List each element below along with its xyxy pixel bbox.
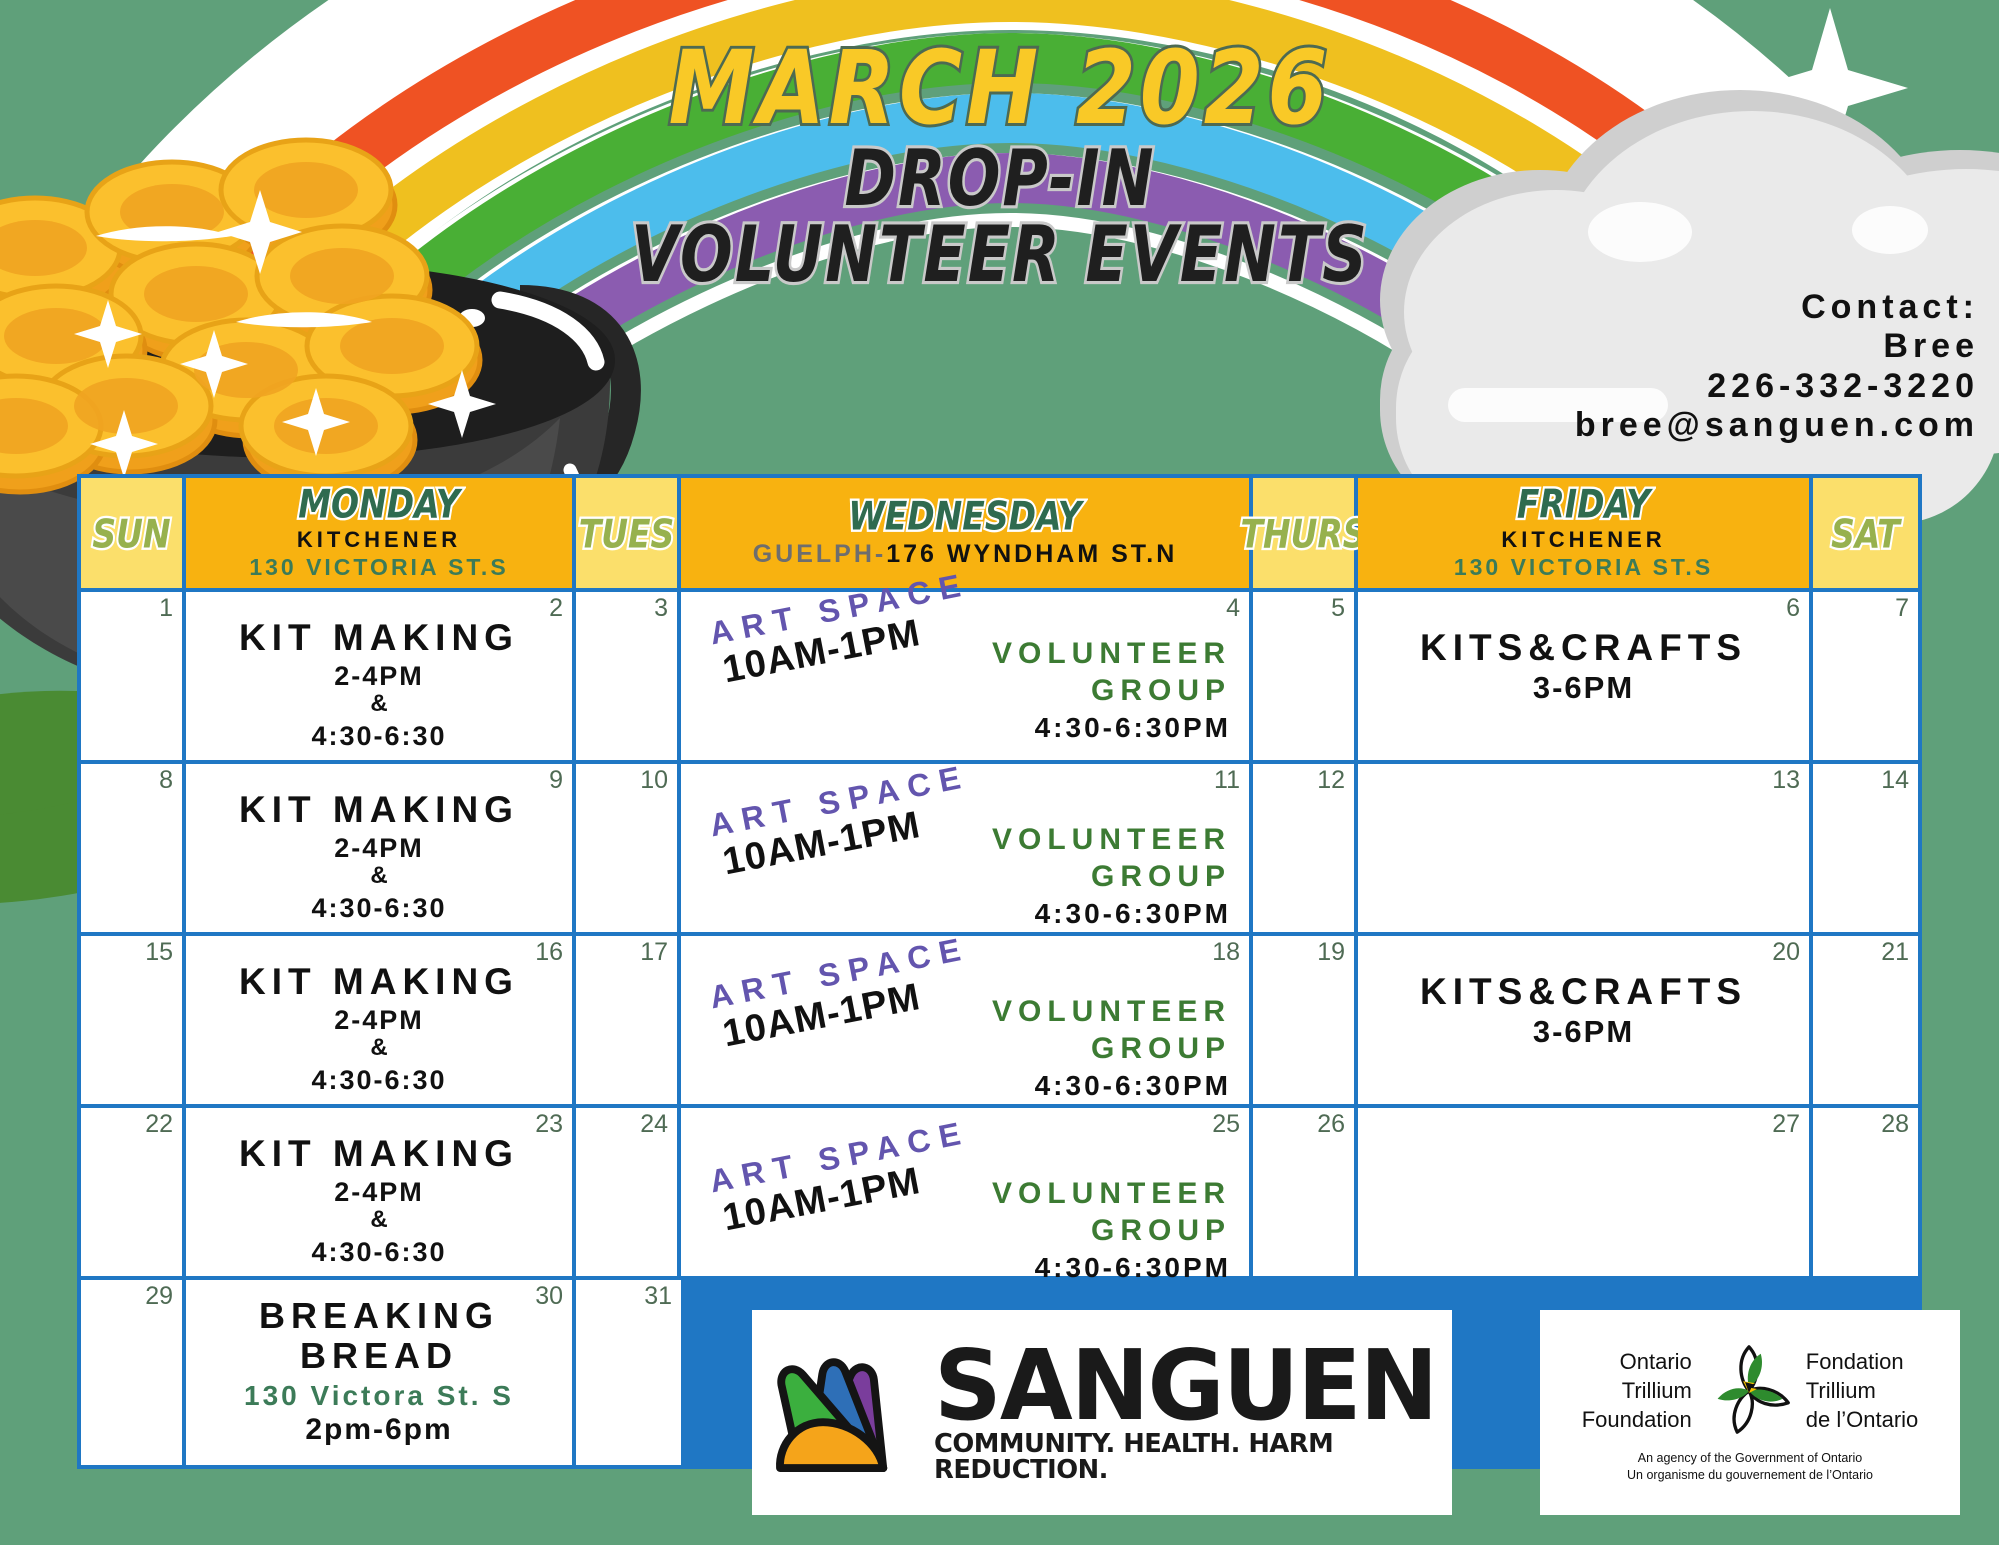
event-block: ART SPACE 10AM-1PM VOLUNTEER GROUP 4:30-… (681, 936, 1249, 1104)
day-number: 19 (1317, 940, 1345, 965)
header-sun: SUN (81, 478, 186, 588)
day-cell[interactable]: 23 KIT MAKING 2-4PM & 4:30-6:30 (186, 1108, 576, 1276)
day-number: 26 (1317, 1112, 1345, 1137)
day-number: 15 (145, 940, 173, 965)
event-title: KIT MAKING (186, 790, 572, 830)
event-title: KIT MAKING (186, 962, 572, 1002)
header-wednesday-street: 176 WYNDHAM ST.N (886, 540, 1177, 568)
day-cell[interactable]: 8 (81, 764, 186, 932)
otf-fr-line-2: Trillium (1806, 1376, 1919, 1405)
day-cell[interactable]: 12 (1253, 764, 1358, 932)
title-line-2: DROP-IN (600, 140, 1400, 218)
volunteer-group-title-1: VOLUNTEER (992, 994, 1231, 1031)
otf-french-name: Fondation Trillium de l’Ontario (1806, 1347, 1919, 1434)
event-block: KIT MAKING 2-4PM & 4:30-6:30 (186, 790, 572, 923)
header-sat-label: SAT (1831, 510, 1900, 557)
event-title-line-1: BREAKING (186, 1296, 572, 1336)
header-sun-label: SUN (92, 510, 170, 557)
volunteer-group-time: 4:30-6:30PM (992, 1251, 1231, 1285)
calendar-week-row: 22 23 KIT MAKING 2-4PM & 4:30-6:30 24 25… (81, 1104, 1918, 1276)
header-wednesday-label: WEDNESDAY (848, 492, 1081, 539)
event-time-1: 2-4PM (186, 661, 572, 691)
sanguen-tagline: COMMUNITY. HEALTH. HARM REDUCTION. (934, 1431, 1447, 1483)
volunteer-group-time: 4:30-6:30PM (992, 711, 1231, 745)
day-cell[interactable]: 15 (81, 936, 186, 1104)
event-block: ART SPACE 10AM-1PM VOLUNTEER GROUP 4:30-… (681, 592, 1249, 760)
day-cell[interactable]: 28 (1813, 1108, 1918, 1276)
contact-name: Bree (1379, 327, 1979, 366)
poster-title: MARCH 2026 DROP-IN VOLUNTEER EVENTS (600, 38, 1400, 278)
header-friday-city: KITCHENER (1501, 526, 1665, 554)
header-thurs-label: THURS (1240, 510, 1366, 557)
event-time-1: 3-6PM (1358, 1015, 1809, 1050)
sanguen-fan-icon (770, 1325, 924, 1500)
event-time-1: 3-6PM (1358, 671, 1809, 706)
event-block: KITS&CRAFTS 3-6PM (1358, 628, 1809, 706)
day-number: 14 (1881, 768, 1909, 793)
day-cell[interactable]: 27 (1358, 1108, 1813, 1276)
header-monday-label: MONDAY (298, 480, 460, 527)
day-number: 20 (1772, 940, 1800, 965)
title-month: MARCH 2026 (600, 38, 1400, 139)
event-block: ART SPACE 10AM-1PM VOLUNTEER GROUP 4:30-… (681, 1108, 1249, 1276)
contact-block: Contact: Bree 226-332-3220 bree@sanguen.… (1379, 288, 1979, 446)
day-cell[interactable]: 7 (1813, 592, 1918, 760)
contact-phone[interactable]: 226-332-3220 (1379, 367, 1979, 406)
day-cell[interactable]: 6 KITS&CRAFTS 3-6PM (1358, 592, 1813, 760)
otf-en-line-3: Foundation (1582, 1405, 1692, 1434)
ontario-trillium-foundation-logo: Ontario Trillium Foundation (1540, 1310, 1960, 1515)
event-time-1: 2-4PM (186, 1005, 572, 1035)
otf-en-line-1: Ontario (1582, 1347, 1692, 1376)
event-time-2: 4:30-6:30 (186, 1065, 572, 1095)
day-cell[interactable]: 20 KITS&CRAFTS 3-6PM (1358, 936, 1813, 1104)
day-cell[interactable]: 17 (576, 936, 681, 1104)
volunteer-group-event: VOLUNTEER GROUP 4:30-6:30PM (992, 1176, 1231, 1285)
day-cell[interactable]: 29 (81, 1280, 186, 1465)
day-number: 10 (640, 768, 668, 793)
calendar-week-row: 15 16 KIT MAKING 2-4PM & 4:30-6:30 17 18… (81, 932, 1918, 1104)
event-ampersand: & (186, 1035, 572, 1061)
day-cell[interactable]: 10 (576, 764, 681, 932)
day-number: 8 (159, 768, 173, 793)
day-number: 31 (644, 1284, 672, 1309)
volunteer-group-title-2: GROUP (992, 859, 1231, 896)
sanguen-wordmark-block: SANGUEN COMMUNITY. HEALTH. HARM REDUCTIO… (934, 1342, 1452, 1483)
header-friday-label: FRIDAY (1517, 480, 1650, 527)
volunteer-group-title-2: GROUP (992, 1031, 1231, 1068)
day-cell[interactable]: 2 KIT MAKING 2-4PM & 4:30-6:30 (186, 592, 576, 760)
volunteer-group-time: 4:30-6:30PM (992, 1069, 1231, 1103)
sanguen-wordmark: SANGUEN (934, 1342, 1436, 1429)
day-number: 21 (1881, 940, 1909, 965)
day-cell[interactable]: 31 (576, 1280, 681, 1465)
event-title-line-2: BREAD (186, 1336, 572, 1376)
day-cell[interactable]: 9 KIT MAKING 2-4PM & 4:30-6:30 (186, 764, 576, 932)
event-ampersand: & (186, 1207, 572, 1233)
art-space-event: ART SPACE 10AM-1PM (707, 1116, 980, 1239)
day-cell[interactable]: 3 (576, 592, 681, 760)
event-ampersand: & (186, 863, 572, 889)
day-cell[interactable]: 14 (1813, 764, 1918, 932)
day-number: 29 (145, 1284, 173, 1309)
day-number: 17 (640, 940, 668, 965)
event-block: KITS&CRAFTS 3-6PM (1358, 972, 1809, 1050)
volunteer-group-event: VOLUNTEER GROUP 4:30-6:30PM (992, 636, 1231, 745)
trillium-flower-icon (1700, 1342, 1798, 1440)
volunteer-group-title-1: VOLUNTEER (992, 636, 1231, 673)
otf-fr-line-3: de l’Ontario (1806, 1405, 1919, 1434)
volunteer-group-event: VOLUNTEER GROUP 4:30-6:30PM (992, 994, 1231, 1103)
otf-main-row: Ontario Trillium Foundation (1582, 1342, 1919, 1440)
event-time: 2pm-6pm (186, 1412, 572, 1448)
day-cell[interactable]: 24 (576, 1108, 681, 1276)
day-number: 13 (1772, 768, 1800, 793)
otf-english-name: Ontario Trillium Foundation (1582, 1347, 1692, 1434)
calendar-week-row: 8 9 KIT MAKING 2-4PM & 4:30-6:30 10 11 A… (81, 760, 1918, 932)
event-block: BREAKING BREAD 130 Victora St. S 2pm-6pm (186, 1296, 572, 1448)
header-tues-label: TUES (579, 510, 675, 557)
day-number: 7 (1895, 596, 1909, 621)
day-cell[interactable]: 16 KIT MAKING 2-4PM & 4:30-6:30 (186, 936, 576, 1104)
day-number: 24 (640, 1112, 668, 1137)
event-time-2: 4:30-6:30 (186, 1237, 572, 1267)
volunteer-group-title-1: VOLUNTEER (992, 1176, 1231, 1213)
otf-footnote-fr: Un organisme du gouvernement de l’Ontari… (1627, 1467, 1873, 1484)
event-time-1: 2-4PM (186, 833, 572, 863)
otf-fr-line-1: Fondation (1806, 1347, 1919, 1376)
event-block: ART SPACE 10AM-1PM VOLUNTEER GROUP 4:30-… (681, 764, 1249, 932)
day-cell[interactable]: 25 ART SPACE 10AM-1PM VOLUNTEER GROUP 4:… (681, 1108, 1253, 1276)
volunteer-group-time: 4:30-6:30PM (992, 897, 1231, 931)
day-cell[interactable]: 21 (1813, 936, 1918, 1104)
day-number: 28 (1881, 1112, 1909, 1137)
otf-en-line-2: Trillium (1582, 1376, 1692, 1405)
volunteer-group-event: VOLUNTEER GROUP 4:30-6:30PM (992, 822, 1231, 931)
contact-label: Contact: (1379, 288, 1979, 327)
event-block: KIT MAKING 2-4PM & 4:30-6:30 (186, 618, 572, 751)
event-title: KIT MAKING (186, 1134, 572, 1174)
header-thurs: THURS (1253, 478, 1358, 588)
event-ampersand: & (186, 691, 572, 717)
sanguen-logo: SANGUEN COMMUNITY. HEALTH. HARM REDUCTIO… (752, 1310, 1452, 1515)
day-number: 12 (1317, 768, 1345, 793)
day-cell[interactable]: 18 ART SPACE 10AM-1PM VOLUNTEER GROUP 4:… (681, 936, 1253, 1104)
event-title: KITS&CRAFTS (1358, 628, 1809, 668)
event-time-2: 4:30-6:30 (186, 893, 572, 923)
day-number: 22 (145, 1112, 173, 1137)
otf-footnote-en: An agency of the Government of Ontario (1627, 1450, 1873, 1467)
header-tues: TUES (576, 478, 681, 588)
calendar-header-row: SUN MONDAY KITCHENER 130 VICTORIA ST.S T… (81, 478, 1918, 588)
event-time-2: 4:30-6:30 (186, 721, 572, 751)
contact-email[interactable]: bree@sanguen.com (1379, 406, 1979, 445)
event-block: KIT MAKING 2-4PM & 4:30-6:30 (186, 962, 572, 1095)
day-cell[interactable]: 13 (1358, 764, 1813, 932)
event-title: KIT MAKING (186, 618, 572, 658)
volunteer-group-title-2: GROUP (992, 1213, 1231, 1250)
header-monday-address: 130 VICTORIA ST.S (249, 553, 508, 582)
day-cell[interactable]: 26 (1253, 1108, 1358, 1276)
day-cell[interactable]: 22 (81, 1108, 186, 1276)
event-address: 130 Victora St. S (186, 1379, 572, 1413)
header-friday-address: 130 VICTORIA ST.S (1454, 553, 1713, 582)
day-number: 1 (159, 596, 173, 621)
day-cell[interactable]: 30 BREAKING BREAD 130 Victora St. S 2pm-… (186, 1280, 576, 1465)
volunteer-group-title-2: GROUP (992, 673, 1231, 710)
day-number: 5 (1331, 596, 1345, 621)
day-number: 3 (654, 596, 668, 621)
day-number: 6 (1786, 596, 1800, 621)
otf-footnote: An agency of the Government of Ontario U… (1627, 1450, 1873, 1484)
day-number: 27 (1772, 1112, 1800, 1137)
day-cell[interactable]: 11 ART SPACE 10AM-1PM VOLUNTEER GROUP 4:… (681, 764, 1253, 932)
header-monday: MONDAY KITCHENER 130 VICTORIA ST.S (186, 478, 576, 588)
event-title: KITS&CRAFTS (1358, 972, 1809, 1012)
calendar-week-row: 1 2 KIT MAKING 2-4PM & 4:30-6:30 3 4 ART… (81, 588, 1918, 760)
day-cell[interactable]: 4 ART SPACE 10AM-1PM VOLUNTEER GROUP 4:3… (681, 592, 1253, 760)
day-cell[interactable]: 5 (1253, 592, 1358, 760)
event-time-1: 2-4PM (186, 1177, 572, 1207)
day-cell[interactable]: 1 (81, 592, 186, 760)
event-block: KIT MAKING 2-4PM & 4:30-6:30 (186, 1134, 572, 1267)
header-wednesday-city: GUELPH- (753, 540, 887, 568)
volunteer-group-title-1: VOLUNTEER (992, 822, 1231, 859)
header-friday: FRIDAY KITCHENER 130 VICTORIA ST.S (1358, 478, 1813, 588)
art-space-event: ART SPACE 10AM-1PM (707, 932, 980, 1055)
header-sat: SAT (1813, 478, 1918, 588)
title-line-3: VOLUNTEER EVENTS (600, 216, 1400, 294)
header-wednesday: WEDNESDAY GUELPH-176 WYNDHAM ST.N (681, 478, 1253, 588)
art-space-event: ART SPACE 10AM-1PM (707, 760, 980, 883)
day-cell[interactable]: 19 (1253, 936, 1358, 1104)
header-monday-city: KITCHENER (297, 526, 461, 554)
poster-canvas: MARCH 2026 DROP-IN VOLUNTEER EVENTS Cont… (0, 0, 1999, 1545)
